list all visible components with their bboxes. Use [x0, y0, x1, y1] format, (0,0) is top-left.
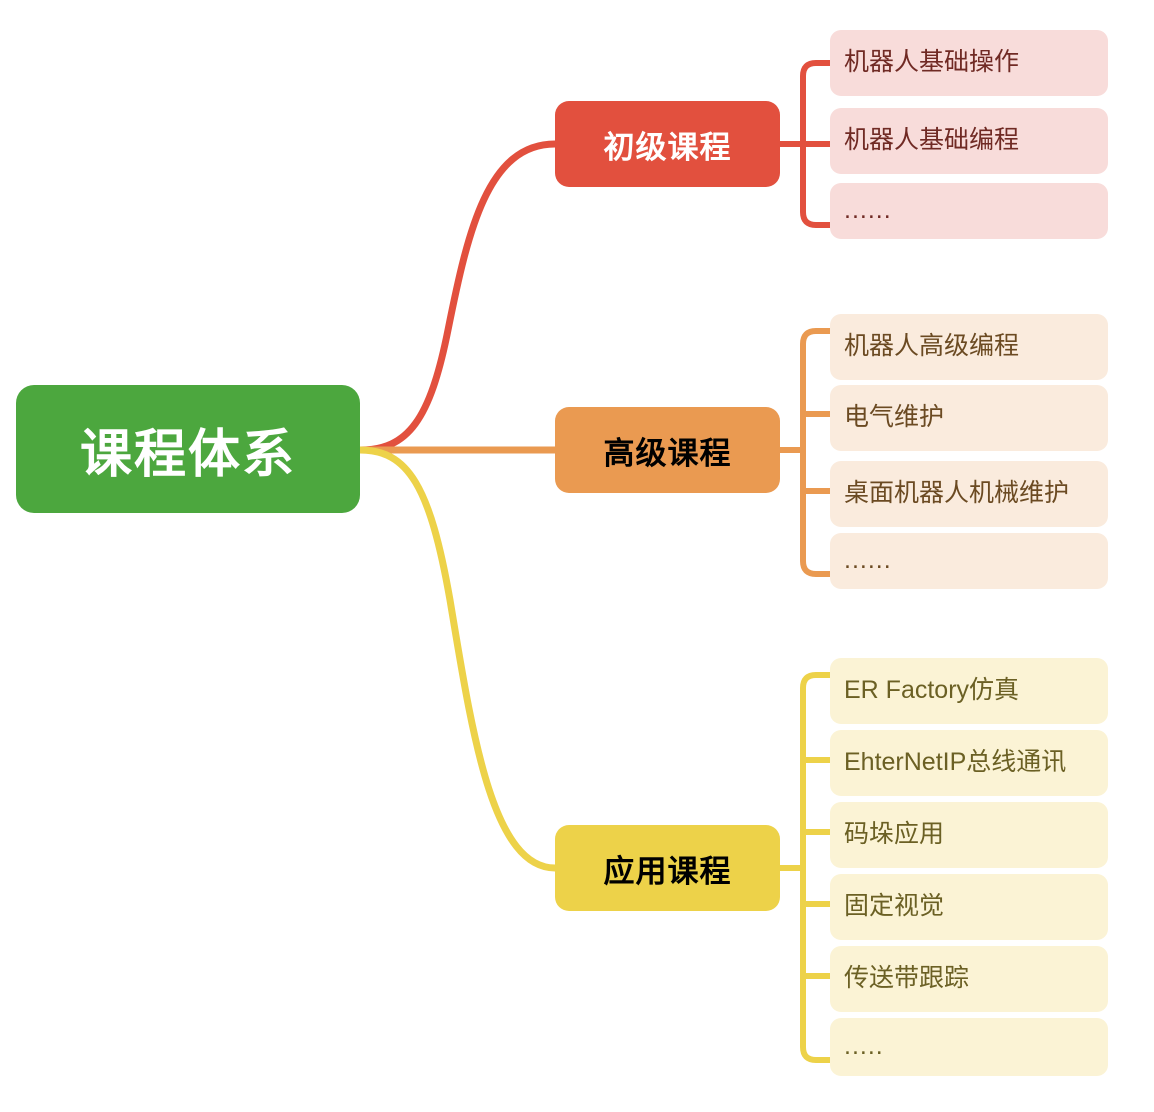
- branch-node-application[interactable]: 应用课程: [555, 825, 780, 911]
- leaf-node[interactable]: ER Factory仿真: [830, 658, 1108, 724]
- root-node[interactable]: 课程体系: [16, 385, 360, 513]
- branch-node-advanced-label: 高级课程: [604, 428, 732, 473]
- leaf-node-label: ......: [844, 197, 892, 225]
- leaf-node[interactable]: .....: [830, 1018, 1108, 1076]
- leaf-node[interactable]: 电气维护: [830, 385, 1108, 451]
- leaf-node-label: 机器人高级编程: [844, 333, 1019, 361]
- leaf-node-label: 固定视觉: [844, 893, 944, 921]
- leaf-node-label: EhterNetIP总线通讯: [844, 749, 1066, 777]
- connector-root-to-application: [360, 450, 555, 868]
- leaf-node[interactable]: ......: [830, 533, 1108, 589]
- leaf-node-label: ER Factory仿真: [844, 677, 1019, 705]
- leaf-node-label: ......: [844, 547, 892, 575]
- leaf-node-label: 电气维护: [844, 404, 944, 432]
- leaf-node-label: 机器人基础编程: [844, 127, 1019, 155]
- branch-node-advanced[interactable]: 高级课程: [555, 407, 780, 493]
- leaf-node[interactable]: 机器人基础操作: [830, 30, 1108, 96]
- connector-root-to-beginner: [360, 144, 555, 450]
- bracket-advanced: [780, 331, 830, 574]
- bracket-application: [780, 675, 830, 1060]
- root-node-label: 课程体系: [80, 412, 296, 487]
- leaf-node-label: 机器人基础操作: [844, 49, 1019, 77]
- bracket-beginner: [780, 63, 830, 225]
- leaf-node-label: 传送带跟踪: [844, 965, 969, 993]
- leaf-node-label: 码垛应用: [844, 821, 944, 849]
- branch-node-application-label: 应用课程: [604, 846, 732, 891]
- leaf-node[interactable]: 机器人基础编程: [830, 108, 1108, 174]
- leaf-node[interactable]: 机器人高级编程: [830, 314, 1108, 380]
- branch-node-beginner[interactable]: 初级课程: [555, 101, 780, 187]
- leaf-node[interactable]: 桌面机器人机械维护: [830, 461, 1108, 527]
- branch-node-beginner-label: 初级课程: [604, 122, 732, 167]
- leaf-node[interactable]: 固定视觉: [830, 874, 1108, 940]
- mindmap-canvas: 课程体系 初级课程 机器人基础操作 机器人基础编程 ...... 高级课程 机器…: [0, 0, 1154, 1112]
- leaf-node-label: .....: [844, 1033, 884, 1061]
- leaf-node[interactable]: EhterNetIP总线通讯: [830, 730, 1108, 796]
- leaf-node[interactable]: ......: [830, 183, 1108, 239]
- leaf-node[interactable]: 传送带跟踪: [830, 946, 1108, 1012]
- leaf-node-label: 桌面机器人机械维护: [844, 480, 1069, 508]
- leaf-node[interactable]: 码垛应用: [830, 802, 1108, 868]
